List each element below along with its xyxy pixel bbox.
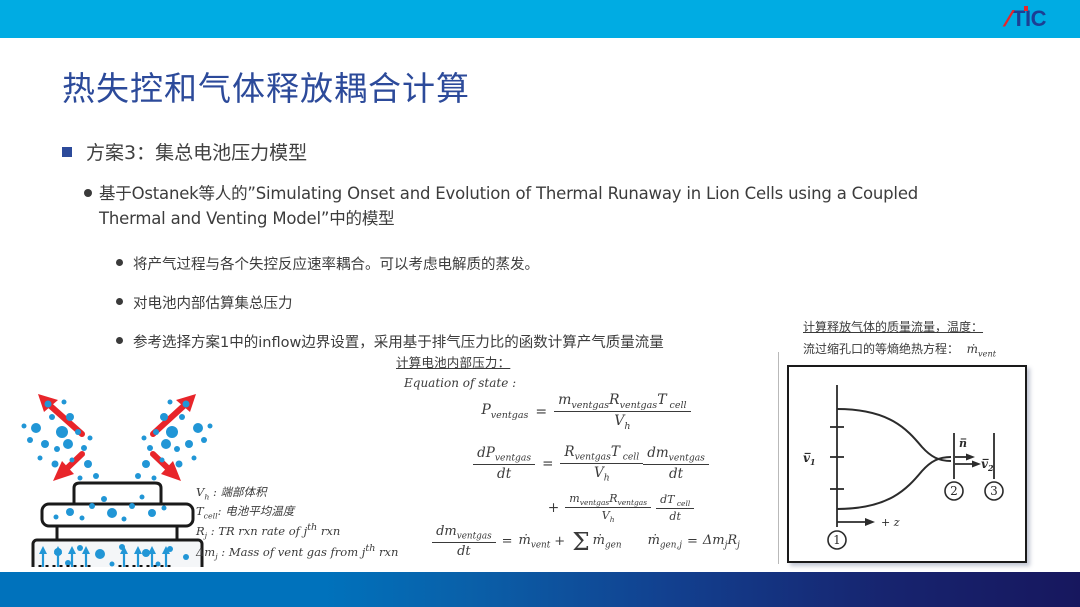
round-bullet-icon <box>116 259 123 266</box>
bullet-level1: 方案3：集总电池压力模型 <box>62 138 307 165</box>
right-note-subline: 流过缩孔口的等熵绝热方程： ṁvent <box>803 340 996 358</box>
equation-dpdt-term2: + mventgasRventgas Vh dT cell dt <box>456 492 786 524</box>
v2-label: v̅2 <box>981 457 994 473</box>
legend-line: Δmj : Mass of vent gas from jth rxn <box>196 542 398 562</box>
equation-mass-balance: dmventgas dt = ṁvent + Σ ṁgen ṁgen,j = Δ… <box>396 524 776 559</box>
round-bullet-icon <box>84 189 92 197</box>
formula-heading: 计算电池内部压力： <box>396 352 776 371</box>
bullet-level3-1: 将产气过程与各个失控反应速率耦合。可以考虑电解质的蒸发。 <box>116 253 539 274</box>
pressure-formula-block: 计算电池内部压力： Equation of state : Pventgas =… <box>396 352 776 564</box>
bullet-level3-3: 参考选择方案1中的inflow边界设置，采用基于排气压力比的函数计算产气质量流量 <box>116 331 664 352</box>
bullet-level1-label: 方案3：集总电池压力模型 <box>86 138 307 165</box>
legend-line: Rj : TR rxn rate of jth rxn <box>196 521 398 541</box>
page-title: 热失控和气体释放耦合计算 <box>62 62 470 110</box>
logo-dot-icon <box>1024 6 1028 11</box>
legend-line: Tcell: 电池平均温度 <box>196 503 398 522</box>
top-banner <box>0 0 1080 38</box>
bullet-level3-label: 对电池内部估算集总压力 <box>133 292 293 313</box>
slide-root: / TIC 热失控和气体释放耦合计算 方案3：集总电池压力模型 基于Ostane… <box>0 0 1080 607</box>
equation-dpdt: dPventgas dt = RventgasT cell Vh dmventg… <box>416 444 766 483</box>
z-axis-label: + z <box>881 516 900 529</box>
station-1-label: 1 <box>833 533 841 547</box>
equation-state: Pventgas = mventgasRventgasT cell Vh <box>396 392 776 432</box>
bullet-level2-label: 基于Ostanek等人的”Simulating Onset and Evolut… <box>99 182 984 232</box>
nbar-label: n̅ <box>959 437 967 450</box>
station-2-label: 2 <box>950 484 958 498</box>
legend-line: Vh : 端部体积 <box>196 484 398 503</box>
logo-text: TIC <box>1012 8 1046 30</box>
bullet-level2: 基于Ostanek等人的”Simulating Onset and Evolut… <box>84 182 984 232</box>
square-bullet-icon <box>62 147 72 157</box>
symbol-legend: Vh : 端部体积 Tcell: 电池平均温度 Rj : TR rxn rate… <box>196 484 398 562</box>
round-bullet-icon <box>116 298 123 305</box>
station-3-label: 3 <box>990 484 998 498</box>
bullet-level3-2: 对电池内部估算集总压力 <box>116 292 293 313</box>
bottom-banner <box>0 572 1080 607</box>
formula-subheading: Equation of state : <box>404 376 776 390</box>
atic-logo: / TIC <box>1005 8 1046 32</box>
right-note-text: 流过缩孔口的等熵绝热方程： <box>803 342 959 356</box>
mvent-symbol: ṁvent <box>963 342 996 356</box>
vertical-divider <box>778 352 779 564</box>
v1-label: v̅1 <box>803 451 816 467</box>
round-bullet-icon <box>116 337 123 344</box>
right-note-heading: 计算释放气体的质量流量，温度： <box>803 318 983 335</box>
bullet-level3-label: 参考选择方案1中的inflow边界设置，采用基于排气压力比的函数计算产气质量流量 <box>133 331 664 352</box>
bullet-level3-label: 将产气过程与各个失控反应速率耦合。可以考虑电解质的蒸发。 <box>133 253 539 274</box>
nozzle-diagram: 1 2 3 v̅1 n̅ v̅2 + z <box>787 365 1027 563</box>
